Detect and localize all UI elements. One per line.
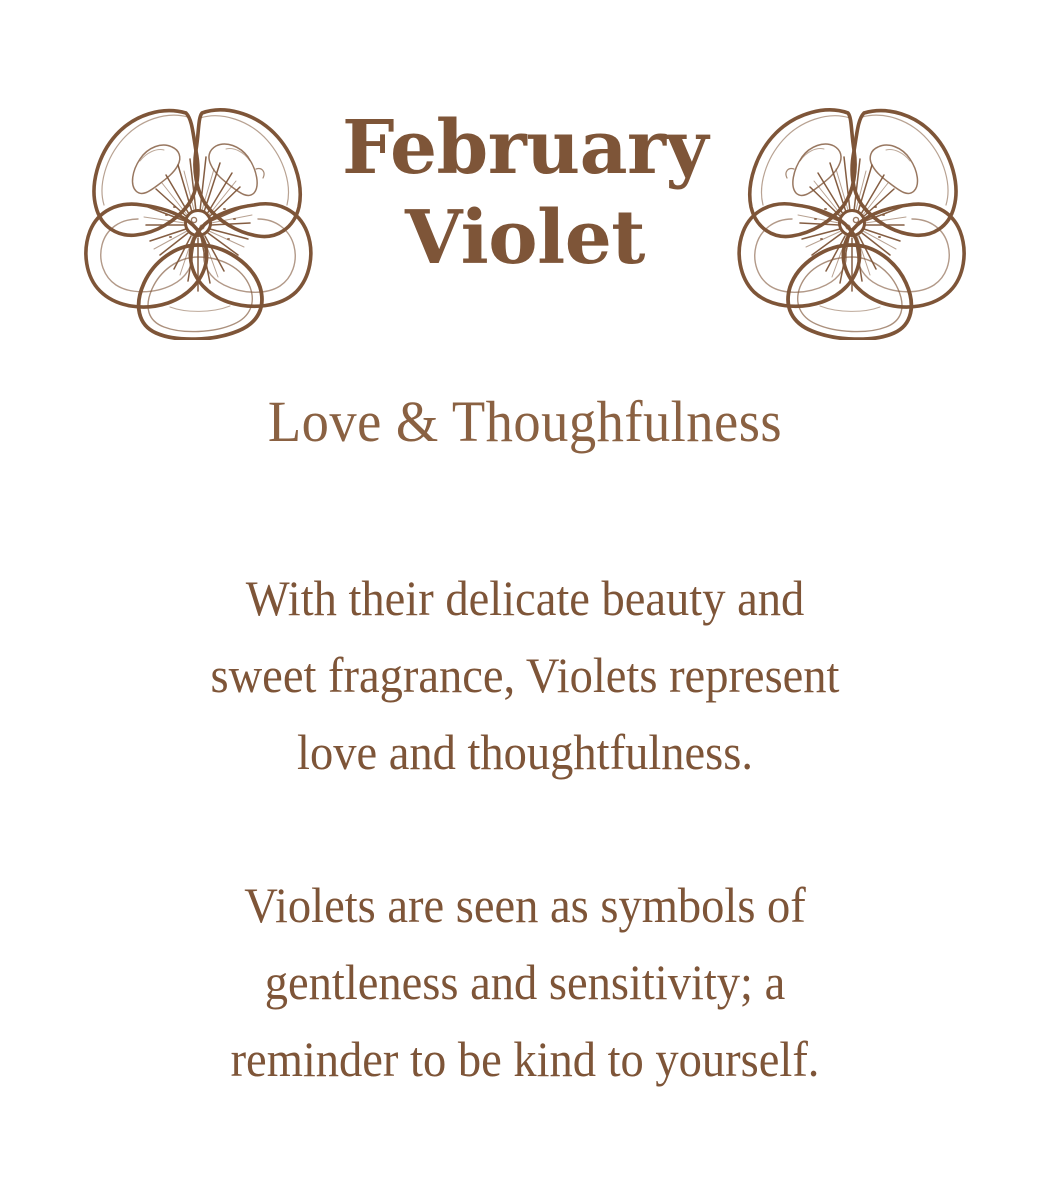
title-line-flower: Violet xyxy=(318,193,732,283)
paragraph-1-line-3: love and thoughtfulness. xyxy=(93,714,958,791)
paragraph-2-line-1: Violets are seen as symbols of xyxy=(93,867,958,944)
birth-flower-card: February Violet xyxy=(0,0,1050,1200)
card-subtitle: Love & Thoughfulness xyxy=(32,392,1019,453)
paragraph-2-line-2: gentleness and sensitivity; a xyxy=(93,944,958,1021)
left-violet-flower-illustration xyxy=(78,95,318,340)
violet-pansy-flower-icon xyxy=(86,110,311,339)
card-title: February Violet xyxy=(318,95,732,284)
right-violet-flower-illustration xyxy=(732,95,972,340)
body-paragraph-2: Violets are seen as symbols of gentlenes… xyxy=(93,867,958,1098)
paragraph-1-line-2: sweet fragrance, Violets represent xyxy=(93,637,958,714)
card-body: With their delicate beauty and sweet fra… xyxy=(60,560,990,1098)
paragraph-2-line-3: reminder to be kind to yourself. xyxy=(93,1021,958,1098)
title-line-month: February xyxy=(318,103,732,193)
card-header: February Violet xyxy=(0,95,1050,345)
body-paragraph-1: With their delicate beauty and sweet fra… xyxy=(93,560,958,791)
paragraph-1-line-1: With their delicate beauty and xyxy=(93,560,958,637)
violet-pansy-flower-icon xyxy=(739,110,964,339)
